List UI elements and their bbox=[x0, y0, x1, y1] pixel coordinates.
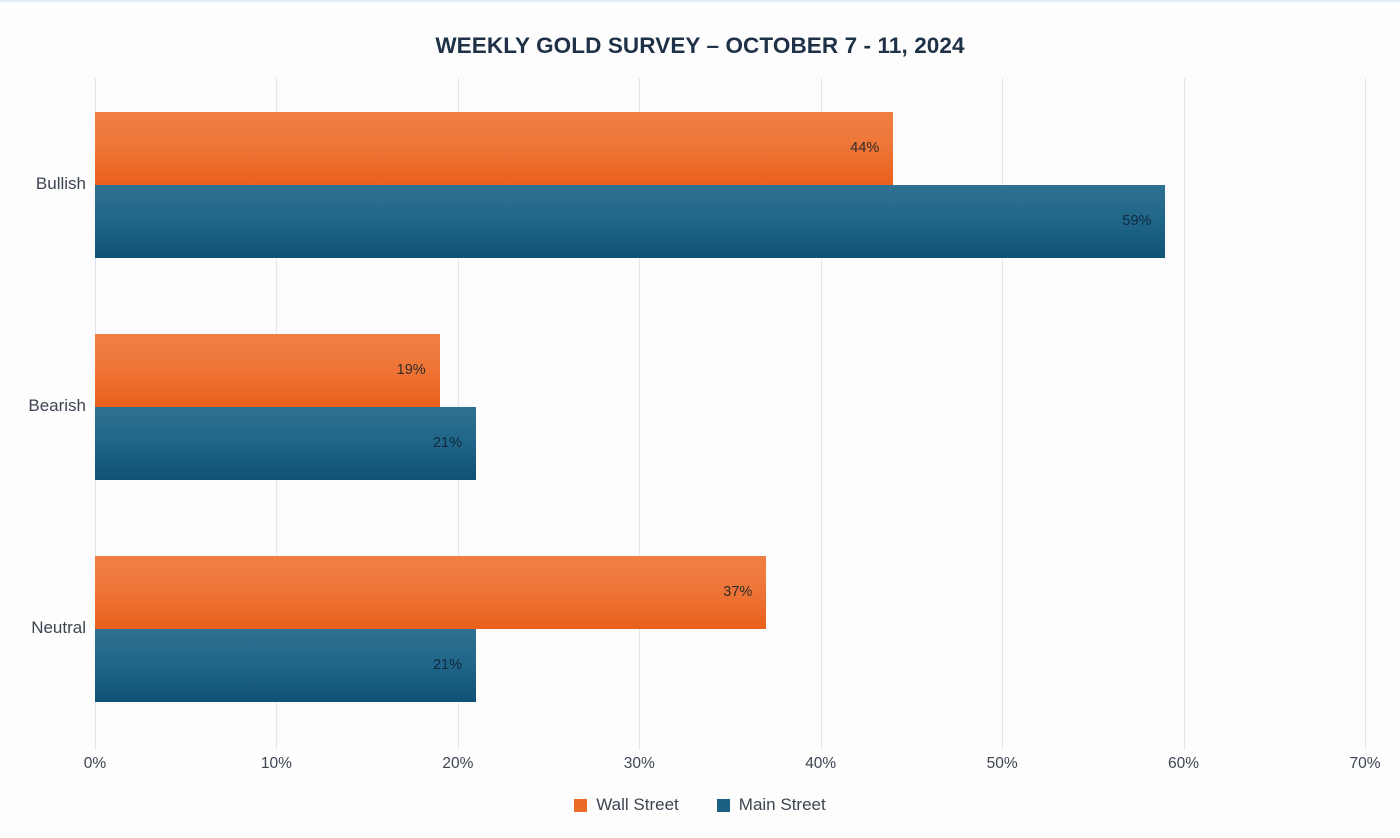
bar-value-label: 59% bbox=[1122, 185, 1151, 258]
category-label-bullish: Bullish bbox=[0, 174, 86, 194]
gridline-50pct bbox=[1002, 78, 1003, 750]
xtick-label-60pct: 60% bbox=[1149, 755, 1219, 773]
chart-canvas: WEEKLY GOLD SURVEY – OCTOBER 7 - 11, 202… bbox=[0, 0, 1400, 838]
legend-item-wall-street[interactable]: Wall Street bbox=[574, 795, 679, 815]
gridline-60pct bbox=[1184, 78, 1185, 750]
category-label-neutral: Neutral bbox=[0, 618, 86, 638]
category-label-bearish: Bearish bbox=[0, 396, 86, 416]
chart-legend: Wall StreetMain Street bbox=[0, 795, 1400, 815]
xtick-label-10pct: 10% bbox=[241, 755, 311, 773]
category-axis: BullishBearishNeutral bbox=[0, 78, 86, 750]
bar-bullish-main-street: 59% bbox=[95, 185, 1165, 258]
bar-neutral-main-street: 21% bbox=[95, 629, 476, 702]
xtick-label-30pct: 30% bbox=[604, 755, 674, 773]
legend-item-main-street[interactable]: Main Street bbox=[717, 795, 826, 815]
legend-swatch-main-street bbox=[717, 799, 730, 812]
bar-value-label: 21% bbox=[433, 629, 462, 702]
bar-neutral-wall-street: 37% bbox=[95, 556, 766, 629]
xtick-label-20pct: 20% bbox=[423, 755, 493, 773]
xtick-label-40pct: 40% bbox=[786, 755, 856, 773]
xtick-label-50pct: 50% bbox=[967, 755, 1037, 773]
plot-area: 44%59%19%21%37%21% bbox=[95, 78, 1365, 750]
bar-value-label: 37% bbox=[723, 556, 752, 629]
value-axis-ticks: 0%10%20%30%40%50%60%70% bbox=[95, 755, 1365, 781]
bar-bearish-wall-street: 19% bbox=[95, 334, 440, 407]
legend-label-main-street: Main Street bbox=[739, 795, 826, 815]
gridline-70pct bbox=[1365, 78, 1366, 750]
chart-title: WEEKLY GOLD SURVEY – OCTOBER 7 - 11, 202… bbox=[0, 33, 1400, 59]
legend-label-wall-street: Wall Street bbox=[596, 795, 679, 815]
bar-value-label: 21% bbox=[433, 407, 462, 480]
xtick-label-0pct: 0% bbox=[60, 755, 130, 773]
bar-value-label: 19% bbox=[397, 334, 426, 407]
bar-value-label: 44% bbox=[850, 112, 879, 185]
bar-bearish-main-street: 21% bbox=[95, 407, 476, 480]
top-edge-rule bbox=[0, 0, 1400, 2]
legend-swatch-wall-street bbox=[574, 799, 587, 812]
bar-bullish-wall-street: 44% bbox=[95, 112, 893, 185]
xtick-label-70pct: 70% bbox=[1330, 755, 1400, 773]
